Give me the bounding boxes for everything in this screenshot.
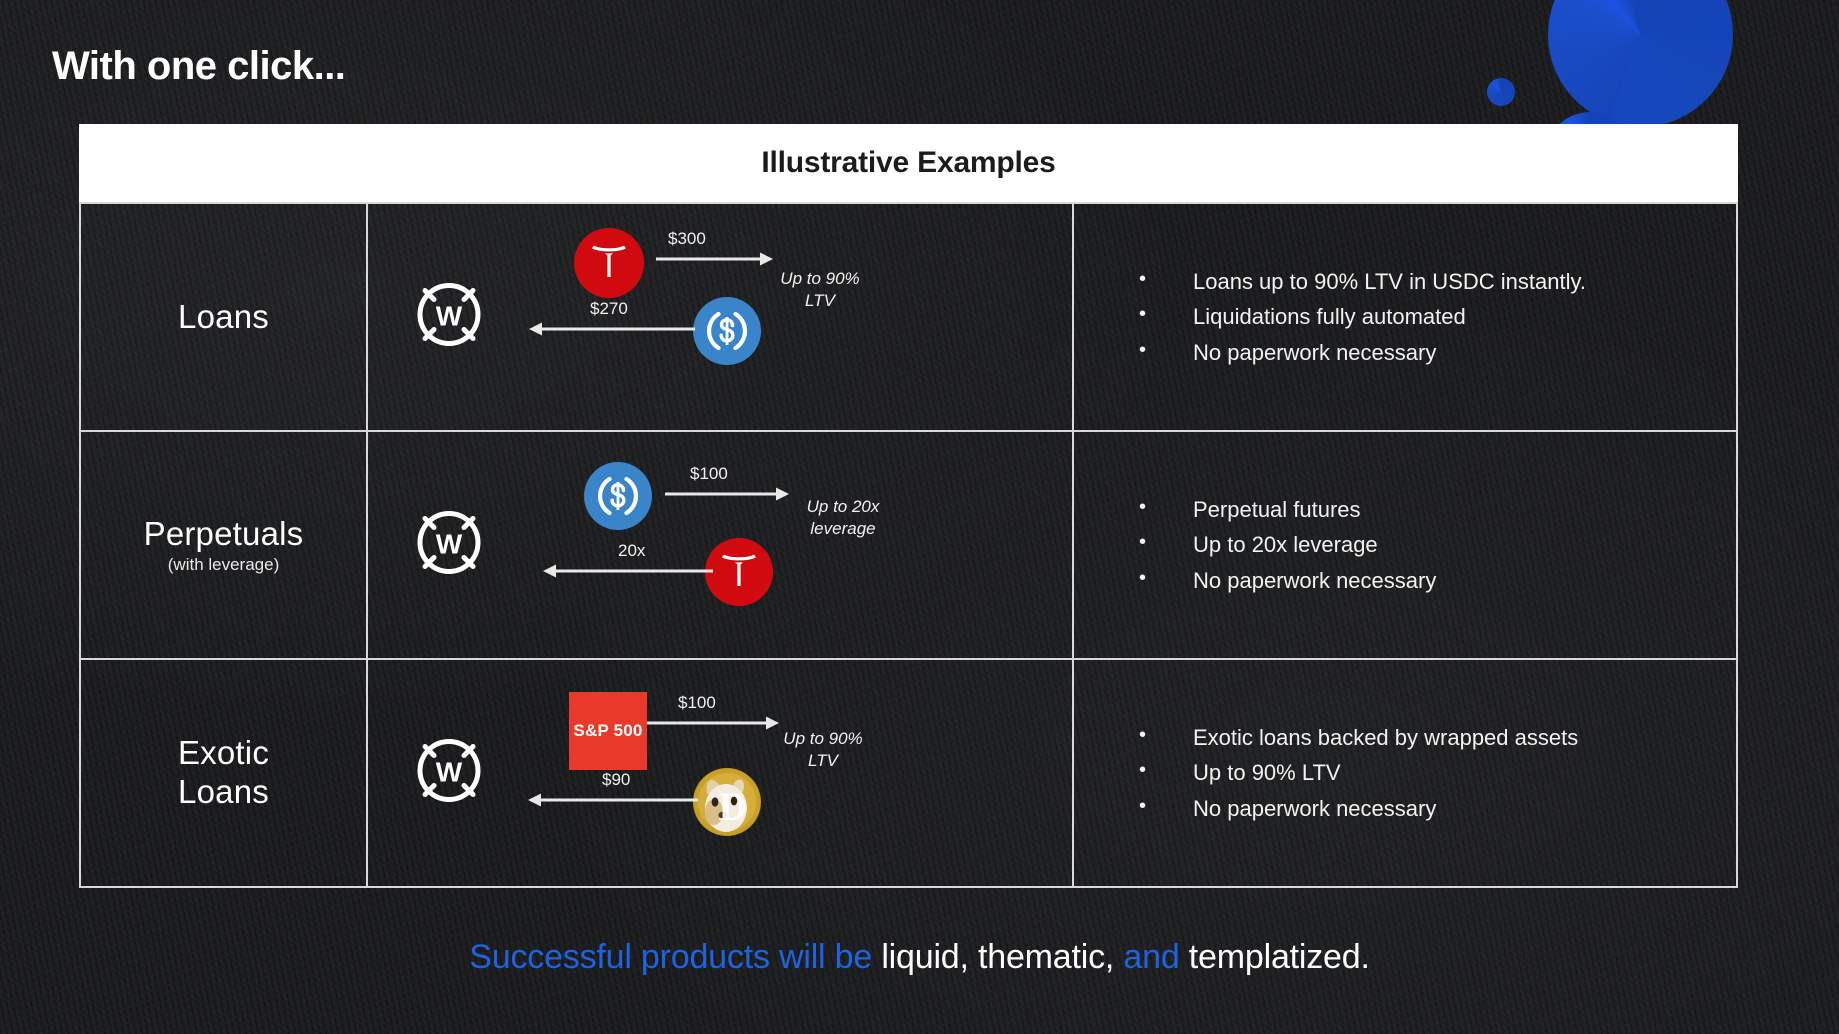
table-row: Loans W bbox=[81, 204, 1736, 432]
illustrative-examples-table: Illustrative Examples Loans bbox=[79, 124, 1738, 888]
diagram-note-top: Up to 20x leverage bbox=[778, 496, 908, 540]
diagram-note-line1: Up to 90% bbox=[780, 269, 859, 288]
dogecoin-icon: D bbox=[693, 768, 761, 836]
footer-part-3: and bbox=[1123, 938, 1179, 976]
list-item: Exotic loans backed by wrapped assets bbox=[1139, 721, 1578, 754]
diagram-note-top: Up to 90% LTV bbox=[763, 728, 883, 772]
table-row: Exotic Loans W bbox=[81, 660, 1736, 886]
table-grid: Loans W bbox=[79, 202, 1738, 888]
flow-label-top: $100 bbox=[678, 693, 716, 713]
diagram-note-line2: leverage bbox=[810, 519, 875, 538]
footer-tagline: Successful products will be liquid, them… bbox=[0, 938, 1839, 977]
decorative-blue-circle-small bbox=[1487, 78, 1515, 106]
bullet-list: Perpetual futures Up to 20x leverage No … bbox=[1139, 491, 1436, 599]
list-item: Liquidations fully automated bbox=[1139, 300, 1586, 333]
diagram-note-line1: Up to 90% bbox=[783, 729, 862, 748]
bullet-list: Loans up to 90% LTV in USDC instantly. L… bbox=[1139, 263, 1586, 371]
row-label-text: Loans bbox=[178, 298, 269, 337]
sp500-box: S&P 500 bbox=[569, 692, 647, 770]
svg-text:D: D bbox=[719, 784, 748, 829]
arrow-right-icon bbox=[656, 251, 774, 267]
diagram-note-line2: LTV bbox=[805, 291, 835, 310]
bullet-list: Exotic loans backed by wrapped assets Up… bbox=[1139, 719, 1578, 827]
svg-text:W: W bbox=[436, 529, 463, 560]
row-label-exotic-loans: Exotic Loans bbox=[81, 660, 368, 886]
wrapped-w-icon: W bbox=[410, 732, 488, 815]
arrow-right-icon bbox=[647, 715, 780, 731]
row-label-perpetuals: Perpetuals (with leverage) bbox=[81, 432, 368, 658]
row-bullets-perpetuals: Perpetual futures Up to 20x leverage No … bbox=[1074, 432, 1736, 658]
page-title: With one click... bbox=[52, 44, 345, 89]
table-header-title: Illustrative Examples bbox=[761, 146, 1055, 180]
table-header-band: Illustrative Examples bbox=[79, 124, 1738, 202]
list-item: Perpetual futures bbox=[1139, 493, 1436, 526]
arrow-left-icon bbox=[529, 321, 695, 337]
arrow-left-icon bbox=[528, 792, 698, 808]
arrow-left-icon bbox=[543, 563, 713, 579]
diagram-note-line1: Up to 20x bbox=[807, 497, 880, 516]
slide-canvas: With one click... Illustrative Examples … bbox=[0, 0, 1839, 1034]
list-item: Up to 90% LTV bbox=[1139, 756, 1578, 789]
list-item: No paperwork necessary bbox=[1139, 792, 1578, 825]
usdc-icon bbox=[584, 462, 652, 530]
list-item: Up to 20x leverage bbox=[1139, 528, 1436, 561]
list-item: No paperwork necessary bbox=[1139, 336, 1586, 369]
arrow-right-icon bbox=[665, 486, 790, 502]
footer-part-1: Successful products will be bbox=[469, 938, 872, 976]
flow-label-bottom: $90 bbox=[602, 770, 630, 790]
row-diagram-exotic-loans: W S&P 500 $100 Up t bbox=[368, 660, 1074, 886]
footer-part-4: templatized. bbox=[1189, 938, 1370, 976]
svg-text:W: W bbox=[436, 301, 463, 332]
decorative-blue-circle-large bbox=[1548, 0, 1733, 127]
list-item: Loans up to 90% LTV in USDC instantly. bbox=[1139, 265, 1586, 298]
row-diagram-perpetuals: W $100 bbox=[368, 432, 1074, 658]
flow-label-bottom: 20x bbox=[618, 541, 645, 561]
row-label-text: Perpetuals bbox=[144, 515, 304, 554]
row-label-text-line1: Exotic bbox=[178, 734, 269, 773]
row-bullets-exotic-loans: Exotic loans backed by wrapped assets Up… bbox=[1074, 660, 1736, 886]
row-diagram-loans: W $300 bbox=[368, 204, 1074, 430]
tesla-icon bbox=[574, 228, 644, 298]
flow-label-top: $100 bbox=[690, 464, 728, 484]
svg-text:W: W bbox=[436, 757, 463, 788]
row-bullets-loans: Loans up to 90% LTV in USDC instantly. L… bbox=[1074, 204, 1736, 430]
wrapped-w-icon: W bbox=[410, 504, 488, 587]
diagram-note-line2: LTV bbox=[808, 751, 838, 770]
flow-label-top: $300 bbox=[668, 229, 706, 249]
tesla-icon bbox=[705, 538, 773, 606]
row-label-loans: Loans bbox=[81, 204, 368, 430]
row-label-text-line2: Loans bbox=[178, 773, 269, 812]
footer-part-2: liquid, thematic, bbox=[881, 938, 1114, 976]
diagram-note-top: Up to 90% LTV bbox=[760, 268, 880, 312]
wrapped-w-icon: W bbox=[410, 276, 488, 359]
row-sublabel-text: (with leverage) bbox=[168, 555, 280, 575]
sp500-label: S&P 500 bbox=[573, 721, 642, 741]
flow-label-bottom: $270 bbox=[590, 299, 628, 319]
table-row: Perpetuals (with leverage) W bbox=[81, 432, 1736, 660]
usdc-icon bbox=[693, 297, 761, 365]
list-item: No paperwork necessary bbox=[1139, 564, 1436, 597]
